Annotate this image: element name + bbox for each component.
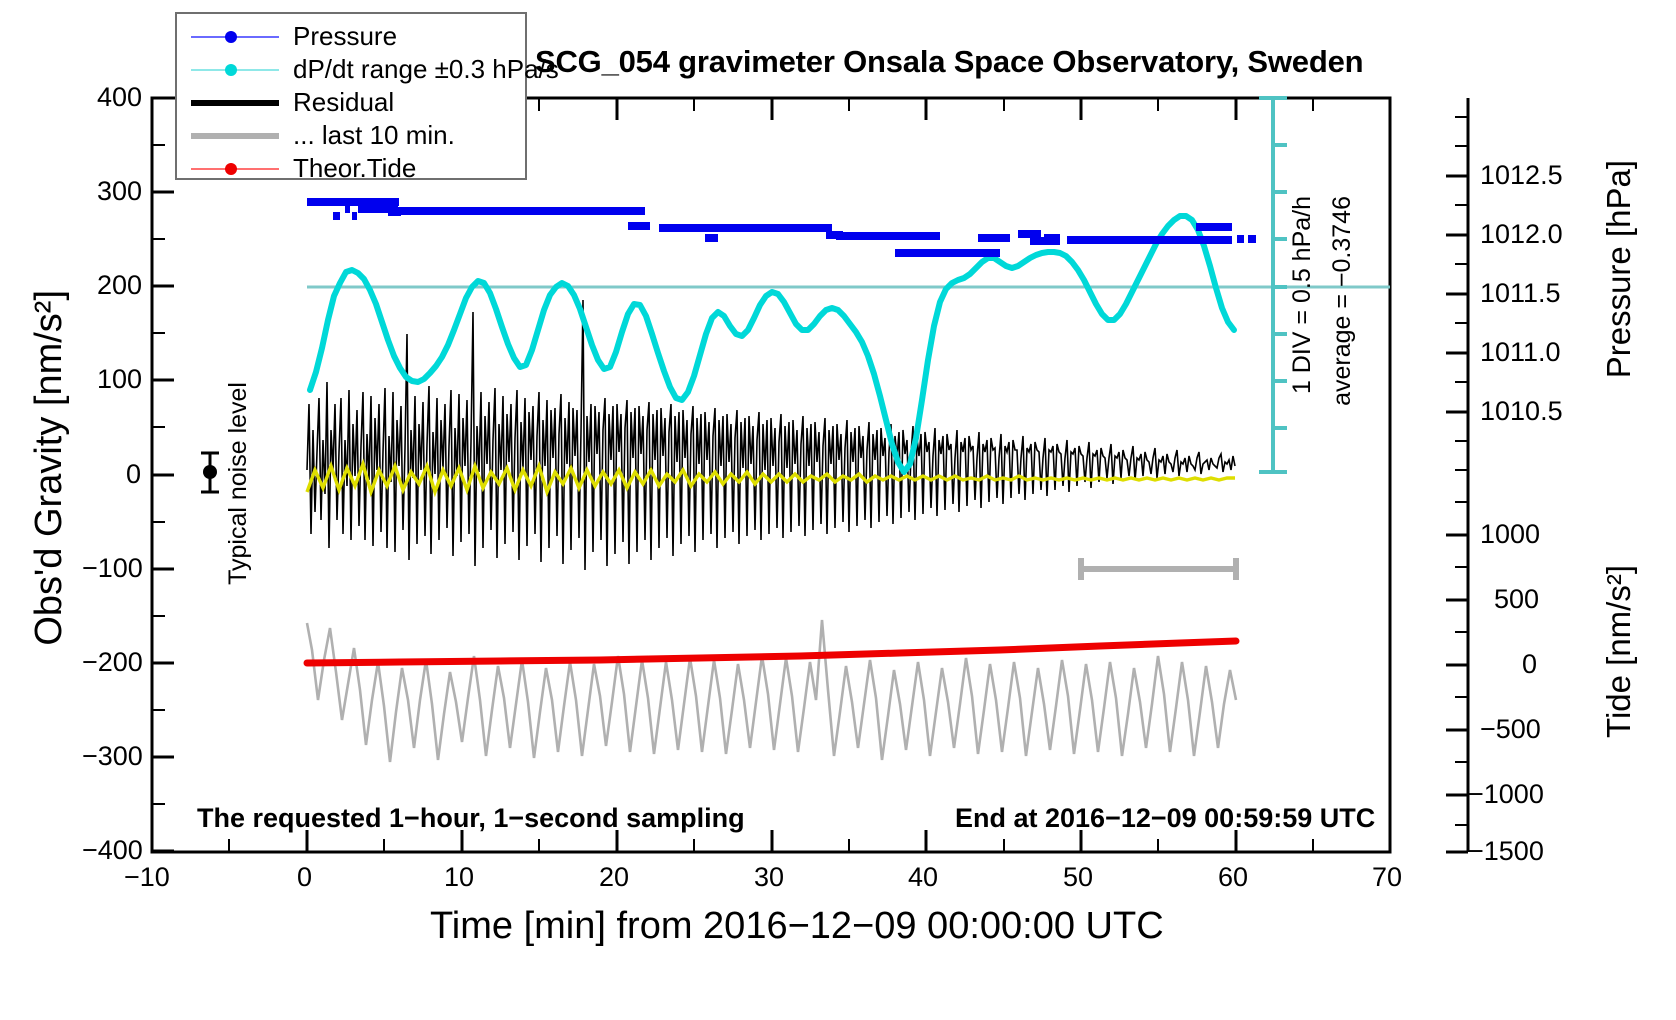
- ytick-100: 100: [97, 364, 142, 395]
- y-axis-title: Obs'd Gravity [nm/s²]: [28, 290, 71, 646]
- ytick-0: 0: [126, 459, 141, 490]
- ytick-m100: −100: [82, 553, 143, 584]
- div-scale-label: 1 DIV = 0.5 hPa/h: [1288, 196, 1317, 394]
- xtick-30: 30: [754, 862, 784, 893]
- ytick-m200: −200: [82, 647, 143, 678]
- legend-item-last10: ... last 10 min.: [191, 119, 525, 152]
- xtick-10: 10: [444, 862, 474, 893]
- legend-swatch-tide: [191, 159, 279, 179]
- gravimeter-plot: 400 300 200 100 0 −100 −200 −300 −400 −1…: [0, 0, 1676, 1020]
- legend-item-pressure: Pressure: [191, 20, 525, 53]
- x-axis-title: Time [min] from 2016−12−09 00:00:00 UTC: [430, 905, 1164, 948]
- ttick-500: 500: [1494, 584, 1539, 615]
- legend-label-dpdt: dP/dt range ±0.3 hPa/s: [293, 54, 559, 85]
- footer-left-note: The requested 1−hour, 1−second sampling: [197, 803, 745, 834]
- legend: Pressure dP/dt range ±0.3 hPa/s Residual…: [175, 12, 527, 180]
- ptick-1011-0: 1011.0: [1480, 337, 1561, 368]
- legend-swatch-dpdt: [191, 60, 279, 80]
- legend-item-residual: Residual: [191, 86, 525, 119]
- xtick-m10: −10: [124, 862, 170, 893]
- ttick-1000: 1000: [1480, 519, 1540, 550]
- ytick-400: 400: [97, 82, 142, 113]
- div-scale-bar: [1259, 98, 1287, 472]
- plot-title: SCG_054 gravimeter Onsala Space Observat…: [535, 44, 1363, 80]
- residual-trace: [307, 300, 1235, 570]
- tide-axis-title: Tide [nm/s²]: [1600, 565, 1638, 738]
- legend-item-tide: Theor.Tide: [191, 152, 525, 185]
- legend-label-pressure: Pressure: [293, 21, 397, 52]
- pressure-trace: [307, 202, 1256, 253]
- left-axis-ticks: [152, 98, 174, 851]
- right-tide-ticks: [1446, 535, 1468, 852]
- noise-level-label: Typical noise level: [224, 382, 253, 585]
- legend-label-tide: Theor.Tide: [293, 153, 416, 184]
- average-label: average = −0.3746: [1328, 196, 1357, 406]
- xtick-50: 50: [1063, 862, 1093, 893]
- ptick-1012-0: 1012.0: [1480, 219, 1563, 250]
- ytick-200: 200: [97, 270, 142, 301]
- last10-span-bar: [1081, 558, 1236, 580]
- ptick-1012-5: 1012.5: [1480, 160, 1563, 191]
- legend-swatch-residual: [191, 93, 279, 113]
- legend-item-dpdt: dP/dt range ±0.3 hPa/s: [191, 53, 525, 86]
- xtick-40: 40: [908, 862, 938, 893]
- right-pressure-ticks: [1446, 176, 1468, 412]
- ttick-m1000: −1000: [1468, 779, 1544, 810]
- ttick-m500: −500: [1480, 714, 1541, 745]
- last10-trace: [307, 620, 1236, 762]
- legend-swatch-last10: [191, 126, 279, 146]
- xtick-60: 60: [1218, 862, 1248, 893]
- legend-label-last10: ... last 10 min.: [293, 120, 455, 151]
- ptick-1010-5: 1010.5: [1480, 396, 1563, 427]
- footer-right-note: End at 2016−12−09 00:59:59 UTC: [955, 803, 1375, 834]
- legend-swatch-pressure: [191, 27, 279, 47]
- legend-label-residual: Residual: [293, 87, 394, 118]
- xtick-20: 20: [599, 862, 629, 893]
- pressure-axis-title: Pressure [hPa]: [1600, 160, 1638, 378]
- ttick-m1500: −1500: [1468, 836, 1544, 867]
- ptick-1011-5: 1011.5: [1480, 278, 1561, 309]
- tide-trace: [307, 641, 1236, 663]
- ytick-300: 300: [97, 176, 142, 207]
- noise-level-dot: [203, 465, 217, 479]
- xtick-0: 0: [297, 862, 312, 893]
- ttick-0: 0: [1522, 649, 1537, 680]
- ytick-m300: −300: [82, 741, 143, 772]
- xtick-70: 70: [1372, 862, 1402, 893]
